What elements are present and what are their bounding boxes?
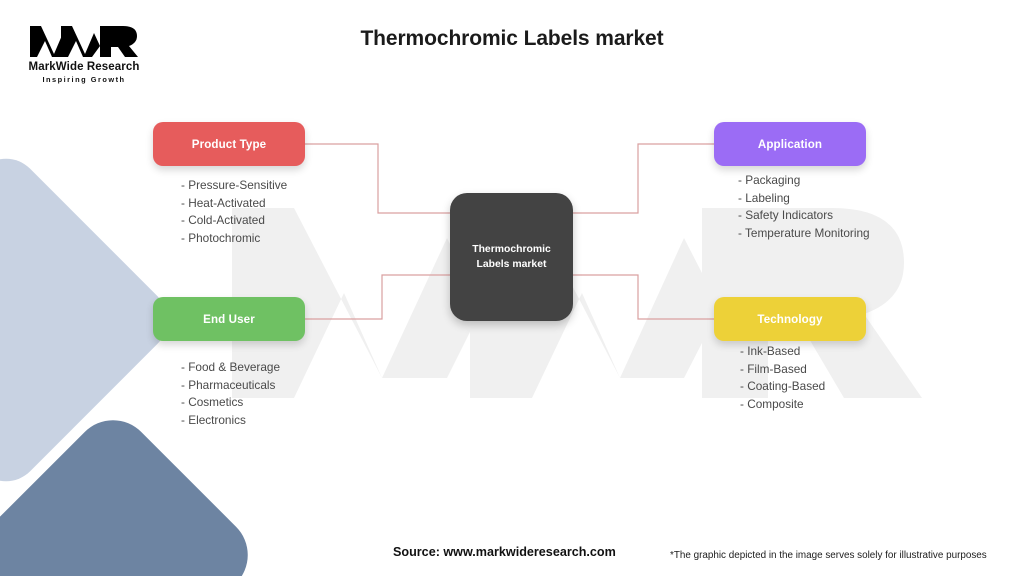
category-list-application: - Packaging - Labeling - Safety Indicato… [738,172,968,242]
list-item: - Temperature Monitoring [738,225,968,243]
list-item: - Photochromic [181,230,411,248]
category-box-technology[interactable]: Technology [714,297,866,341]
center-node-label: Thermochromic Labels market [472,242,551,272]
footer-disclaimer: *The graphic depicted in the image serve… [670,550,987,561]
category-box-product-type[interactable]: Product Type [153,122,305,166]
list-item: - Composite [740,396,970,414]
footer-source: Source: www.markwideresearch.com [393,545,616,559]
list-item: - Packaging [738,172,968,190]
list-item: - Ink-Based [740,343,970,361]
list-item: - Labeling [738,190,968,208]
category-label-end-user: End User [203,313,255,326]
list-item: - Coating-Based [740,378,970,396]
category-box-end-user[interactable]: End User [153,297,305,341]
list-item: - Cold-Activated [181,212,411,230]
list-item: - Heat-Activated [181,195,411,213]
category-list-technology: - Ink-Based - Film-Based - Coating-Based… [740,343,970,413]
connector-technology [573,275,714,319]
list-item: - Safety Indicators [738,207,968,225]
category-label-technology: Technology [757,313,822,326]
list-item: - Pressure-Sensitive [181,177,411,195]
center-node[interactable]: Thermochromic Labels market [450,193,573,321]
list-item: - Film-Based [740,361,970,379]
connector-application [573,144,714,213]
category-list-end-user: - Food & Beverage - Pharmaceuticals - Co… [181,359,411,429]
list-item: - Pharmaceuticals [181,377,411,395]
category-list-product-type: - Pressure-Sensitive - Heat-Activated - … [181,177,411,247]
list-item: - Electronics [181,412,411,430]
infographic-canvas: MarkWide Research Inspiring Growth Therm… [0,0,1024,576]
category-label-application: Application [758,138,822,151]
category-box-application[interactable]: Application [714,122,866,166]
category-label-product-type: Product Type [192,138,266,151]
connector-end-user [305,275,450,319]
list-item: - Cosmetics [181,394,411,412]
list-item: - Food & Beverage [181,359,411,377]
